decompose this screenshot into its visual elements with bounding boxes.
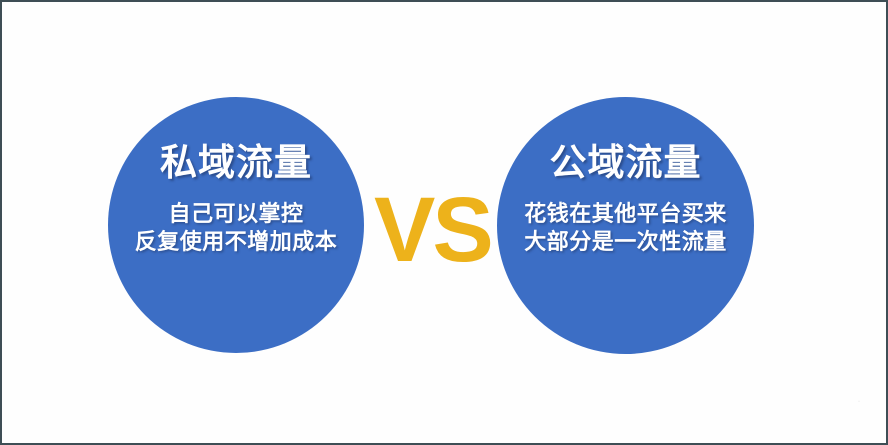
corner-watermark: ·: [854, 395, 864, 409]
comparison-circle-left: 私域流量 自己可以掌控 反复使用不增加成本: [108, 97, 364, 353]
circle-left-line-2: 反复使用不增加成本: [135, 229, 338, 257]
circle-left-title: 私域流量: [160, 143, 312, 183]
circle-right-line-2: 大部分是一次性流量: [524, 229, 727, 257]
slide-canvas: 私域流量 自己可以掌控 反复使用不增加成本 VS 公域流量 花钱在其他平台买来 …: [0, 0, 888, 445]
circle-right-line-1: 花钱在其他平台买来: [524, 201, 727, 229]
versus-label: VS: [374, 184, 484, 276]
circle-right-description: 花钱在其他平台买来 大部分是一次性流量: [524, 201, 727, 257]
circle-left-description: 自己可以掌控 反复使用不增加成本: [135, 201, 338, 257]
circle-left-line-1: 自己可以掌控: [135, 201, 338, 229]
comparison-circle-right: 公域流量 花钱在其他平台买来 大部分是一次性流量: [497, 97, 754, 354]
circle-right-title: 公域流量: [550, 143, 702, 183]
